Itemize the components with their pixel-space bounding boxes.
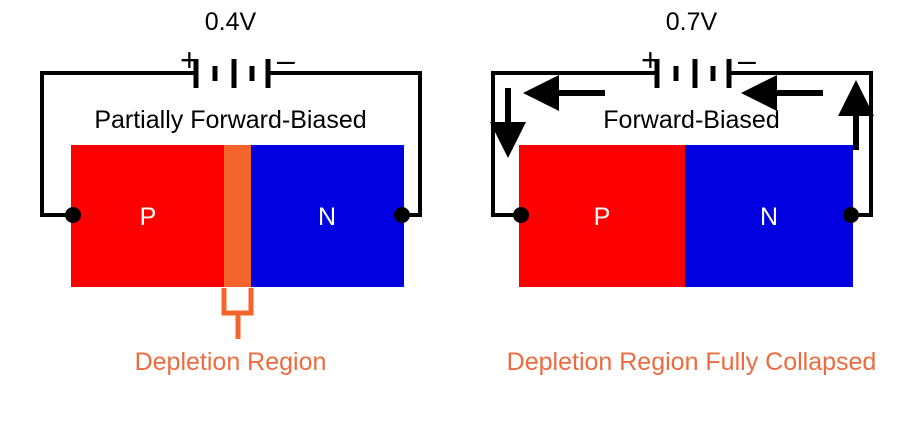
terminal-node-p (513, 207, 529, 223)
battery-symbol-right (657, 59, 729, 88)
battery-plus-sign-left: + (180, 44, 199, 76)
depletion-caption-right: Depletion Region Fully Collapsed (461, 350, 922, 375)
depletion-region-block (224, 145, 251, 287)
battery-minus-sign-left: – (277, 44, 295, 76)
voltage-label-left: 0.4V (0, 10, 461, 35)
n-region-label-right: N (749, 205, 789, 230)
battery-plus-sign-right: + (641, 44, 660, 76)
terminal-node-n (843, 207, 859, 223)
bias-label-right: Forward-Biased (461, 108, 922, 133)
terminal-node-n (394, 207, 410, 223)
panel-partially-forward-biased: 0.4V + – Partially Forward-Biased P N De… (0, 0, 461, 422)
terminal-node-p (65, 207, 81, 223)
battery-minus-sign-right: – (738, 44, 756, 76)
battery-symbol-left (196, 59, 268, 88)
panel-forward-biased: 0.7V + – Forward-Biased P N Depletion Re… (461, 0, 922, 422)
diagram-canvas: 0.4V + – Partially Forward-Biased P N De… (0, 0, 922, 422)
voltage-label-right: 0.7V (461, 10, 922, 35)
depletion-caption-left: Depletion Region (0, 350, 461, 375)
depletion-bracket (224, 288, 251, 339)
bias-label-left: Partially Forward-Biased (0, 108, 461, 133)
n-region-label-left: N (307, 205, 347, 230)
p-region-label-right: P (582, 205, 622, 230)
p-region-label-left: P (128, 205, 168, 230)
